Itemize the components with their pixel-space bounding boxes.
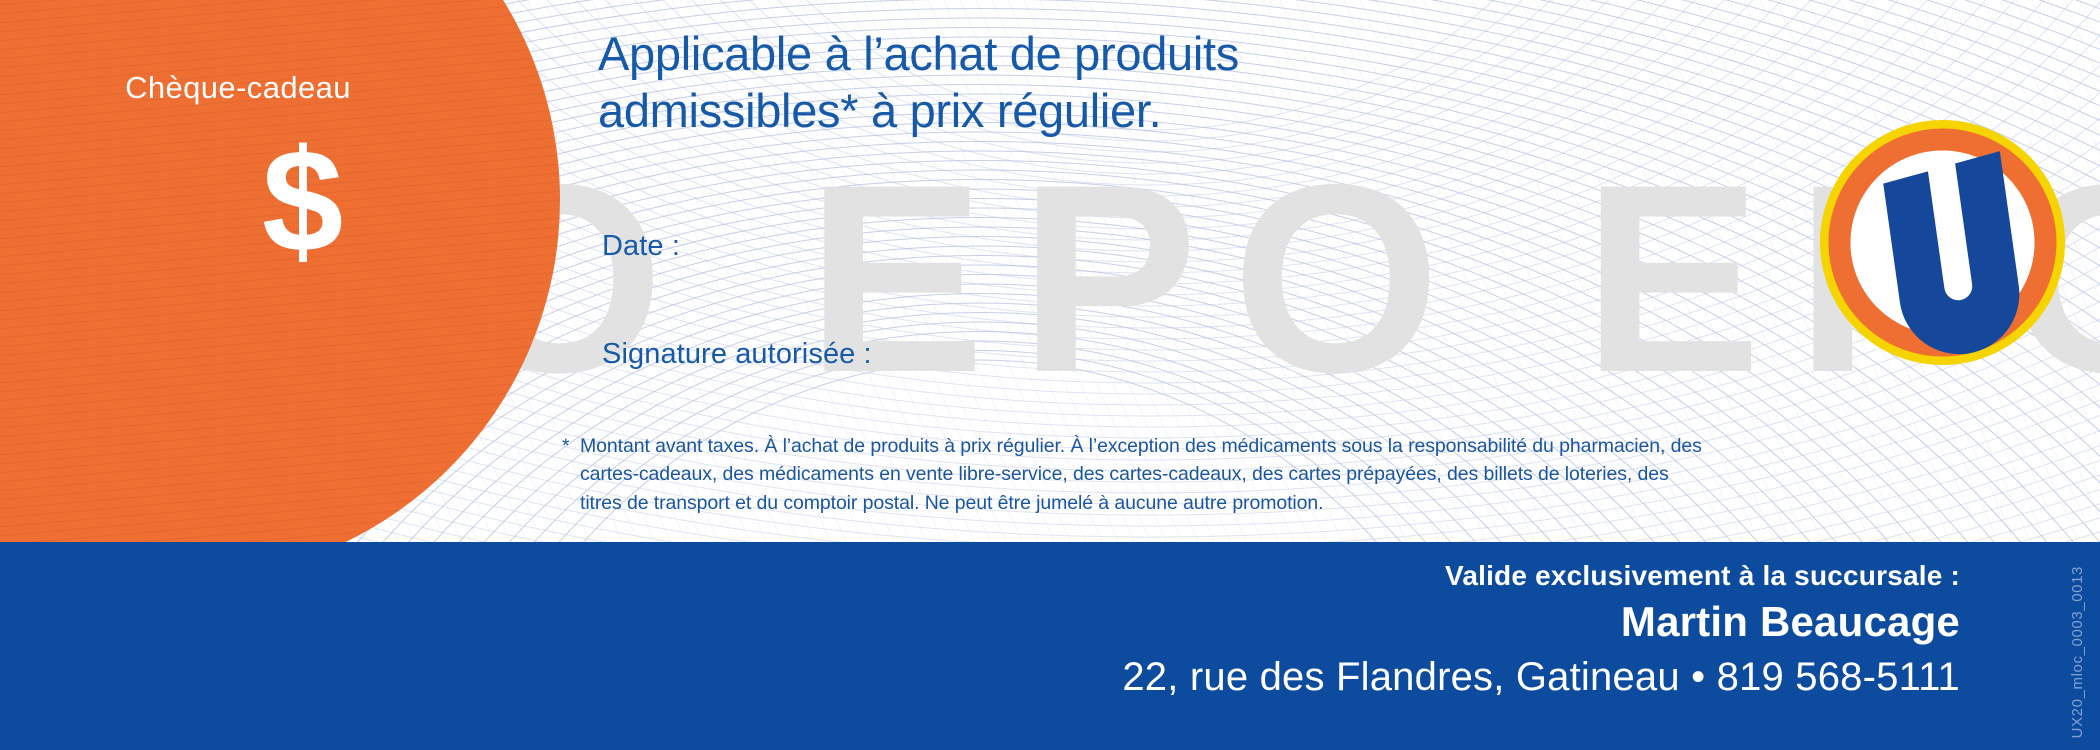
valid-at-label: Valide exclusivement à la succursale : [1445,560,1960,592]
signature-field-label[interactable]: Signature autorisée : [602,338,872,371]
footer-band: Valide exclusivement à la succursale : M… [0,542,2100,750]
reference-code: UX20_mloc_0003_0013 [2069,566,2086,738]
page-title: Applicable à l’achat de produits admissi… [598,26,1239,140]
store-name: Martin Beaucage [1621,598,1960,646]
uniprix-logo [1820,120,2065,365]
asterisk-marker: * [562,432,570,460]
disclaimer-text: *Montant avant taxes. À l’achat de produ… [580,432,1710,517]
store-address: 22, rue des Flandres, Gatineau • 819 568… [1122,655,1960,700]
gift-certificate: EPO EPO EPO Chèque-cadeau $ Applicable à… [0,0,2100,750]
cheque-cadeau-label: Chèque-cadeau [58,70,418,106]
disclaimer-body: Montant avant taxes. À l’achat de produi… [580,435,1702,514]
date-field-label[interactable]: Date : [602,230,680,263]
dollar-symbol: $ [262,128,343,274]
